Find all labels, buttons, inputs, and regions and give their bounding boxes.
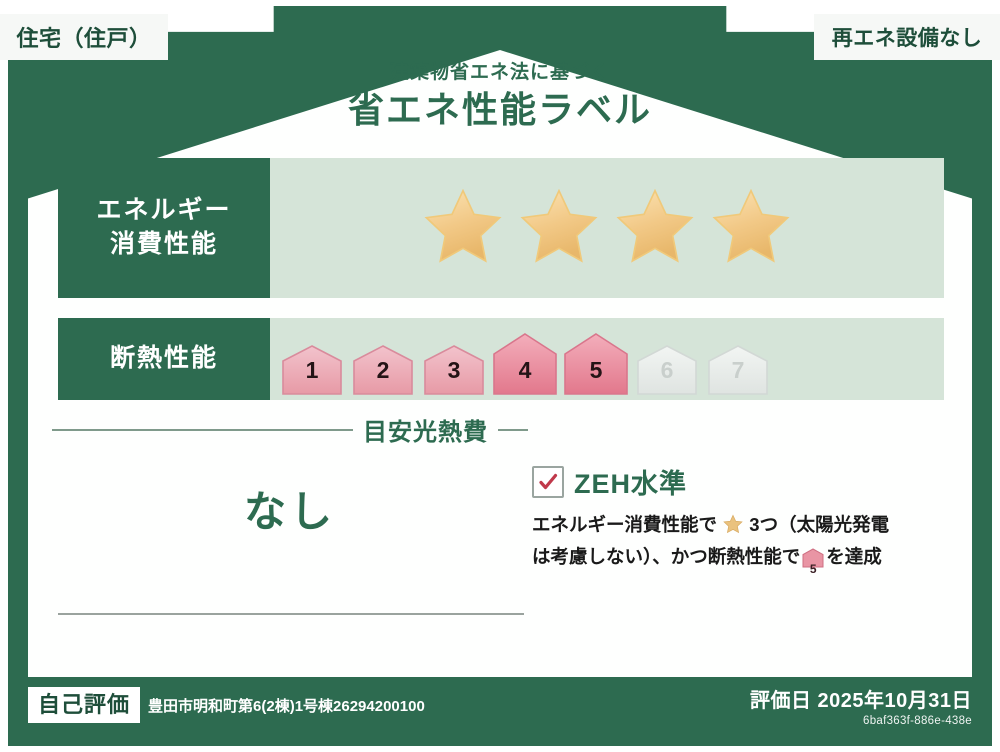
check-icon bbox=[538, 472, 558, 492]
insulation-level-3: 3 bbox=[420, 344, 488, 396]
building-type-tag: 住宅（住戸） bbox=[0, 14, 168, 60]
insulation-level-7: 7 bbox=[704, 344, 772, 396]
zeh-desc-part2: は考慮しない）、かつ断熱性能で bbox=[532, 546, 800, 567]
utility-cost-heading-text: 目安光熱費 bbox=[363, 412, 488, 447]
footer-left: 自己評価 豊田市明和町第6(2棟)1号棟26294200100 bbox=[28, 687, 425, 723]
zeh-standard-block: ZEH水準 エネルギー消費性能で 3つ（太陽光発電 は考慮しない）、かつ断熱性能… bbox=[532, 462, 944, 576]
inline-house-badge: 5 bbox=[802, 548, 824, 577]
house-icon bbox=[707, 344, 769, 396]
property-address: 豊田市明和町第6(2棟)1号棟26294200100 bbox=[148, 695, 425, 716]
zeh-description: エネルギー消費性能で 3つ（太陽光発電 は考慮しない）、かつ断熱性能で 5 を達… bbox=[532, 511, 944, 576]
inline-house-level: 5 bbox=[802, 563, 824, 575]
label-footer: 自己評価 豊田市明和町第6(2棟)1号棟26294200100 評価日 2025… bbox=[28, 680, 972, 730]
energy-performance-value bbox=[270, 158, 944, 298]
page-title: 省エネ性能ラベル bbox=[0, 87, 1000, 134]
heading-rule-left bbox=[52, 429, 353, 431]
insulation-level-6: 6 bbox=[633, 344, 701, 396]
zeh-checkbox[interactable] bbox=[532, 466, 564, 498]
house-icon bbox=[636, 344, 698, 396]
inline-star-icon bbox=[718, 517, 748, 538]
insulation-level-1: 1 bbox=[278, 344, 346, 396]
utility-cost-bottom-rule bbox=[58, 613, 524, 615]
star-rating bbox=[421, 186, 793, 271]
house-icon bbox=[492, 332, 558, 396]
heading-rule-right bbox=[498, 429, 528, 431]
zeh-desc-part3: を達成 bbox=[826, 546, 882, 567]
insulation-level-5: 5 bbox=[562, 332, 630, 396]
self-evaluation-badge: 自己評価 bbox=[28, 687, 140, 723]
energy-label-line2: 消費性能 bbox=[110, 228, 218, 262]
energy-performance-label: 住宅（住戸） 再エネ設備なし 建築物省エネ法に基づく 省エネ性能ラベル エネルギ… bbox=[0, 0, 1000, 752]
energy-label-line1: エネルギー bbox=[96, 194, 231, 228]
evaluation-id: 6baf363f-886e-438e bbox=[750, 715, 972, 727]
utility-cost-heading: 目安光熱費 bbox=[52, 412, 528, 447]
star-icon bbox=[613, 186, 697, 271]
insulation-performance-row: 断熱性能 1234567 bbox=[58, 318, 944, 400]
footer-right: 評価日 2025年10月31日 6baf363f-886e-438e bbox=[750, 684, 972, 727]
energy-performance-row: エネルギー 消費性能 bbox=[58, 158, 944, 298]
insulation-level-2: 2 bbox=[349, 344, 417, 396]
evaluation-date: 評価日 2025年10月31日 bbox=[750, 684, 972, 713]
energy-performance-label: エネルギー 消費性能 bbox=[58, 158, 270, 298]
insulation-performance-value: 1234567 bbox=[270, 318, 944, 400]
insulation-level-scale: 1234567 bbox=[278, 314, 772, 404]
house-icon bbox=[423, 344, 485, 396]
title-block: 建築物省エネ法に基づく 省エネ性能ラベル bbox=[0, 62, 1000, 134]
house-icon bbox=[563, 332, 629, 396]
zeh-desc-star-count: 3つ（太陽光発電 bbox=[749, 514, 889, 535]
zeh-title-row: ZEH水準 bbox=[532, 462, 944, 501]
star-icon bbox=[421, 186, 505, 271]
zeh-title: ZEH水準 bbox=[574, 462, 687, 501]
star-icon bbox=[709, 186, 793, 271]
star-icon bbox=[517, 186, 601, 271]
house-icon bbox=[352, 344, 414, 396]
utility-cost-value: なし bbox=[52, 478, 528, 539]
renewable-energy-tag: 再エネ設備なし bbox=[814, 14, 1000, 60]
insulation-performance-label: 断熱性能 bbox=[58, 318, 270, 400]
zeh-desc-part1: エネルギー消費性能で bbox=[532, 514, 717, 535]
insulation-level-4: 4 bbox=[491, 332, 559, 396]
house-icon bbox=[281, 344, 343, 396]
title-subtitle: 建築物省エネ法に基づく bbox=[0, 62, 1000, 85]
